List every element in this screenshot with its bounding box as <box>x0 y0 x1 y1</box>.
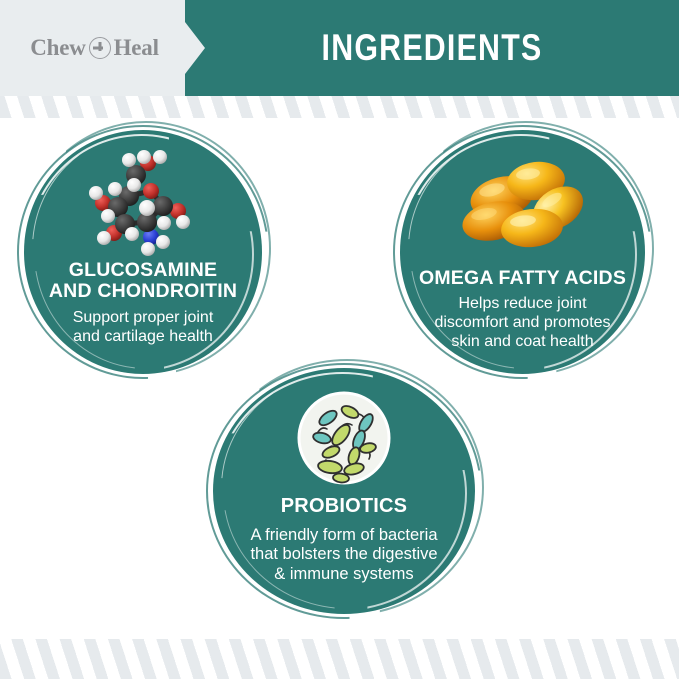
card-title-glucosamine: GLUCOSAMINE AND CHONDROITIN <box>49 260 237 302</box>
card-title-probiotics: PROBIOTICS <box>281 496 407 518</box>
card-desc-line2: that bolsters the digestive <box>250 545 437 564</box>
card-title-omega: OMEGA FATTY ACIDS <box>419 268 626 289</box>
atom-hydrogen <box>141 242 155 256</box>
card-title-line2: AND CHONDROITIN <box>49 281 237 302</box>
page-title: INGREDIENTS <box>229 0 634 96</box>
header-chevron-notch-icon <box>185 22 205 74</box>
molecule-icon <box>84 144 202 256</box>
brand-word-chew: Chew <box>30 35 85 61</box>
card-title-line1: OMEGA FATTY ACIDS <box>419 268 626 289</box>
circled-plus-icon <box>89 37 111 59</box>
molecule-icon-slot <box>24 142 262 258</box>
header-bar: Chew Heal INGREDIENTS <box>0 0 679 96</box>
card-desc-line3: skin and coat health <box>434 333 610 352</box>
card-desc-line2: and cartilage health <box>73 328 214 347</box>
card-title-line1: PROBIOTICS <box>281 496 407 518</box>
card-desc-line1: Helps reduce joint <box>434 295 610 314</box>
atom-hydrogen <box>89 186 103 200</box>
brand-word-heal: Heal <box>114 35 159 61</box>
atom-hydrogen <box>97 231 111 245</box>
card-desc-line1: Support proper joint <box>73 309 214 328</box>
atom-hydrogen <box>157 216 171 230</box>
atom-hydrogen <box>153 150 167 164</box>
fish-oil-capsules-icon <box>458 150 588 262</box>
ingredient-circle-omega: OMEGA FATTY ACIDS Helps reduce joint dis… <box>400 130 645 374</box>
card-description-probiotics: A friendly form of bacteria that bolster… <box>250 526 437 584</box>
diagonal-stripe-band-bottom <box>0 639 679 679</box>
atom-hydrogen <box>127 178 141 192</box>
atom-hydrogen <box>125 227 139 241</box>
card-desc-line3: & immune systems <box>250 565 437 584</box>
infographic-page: Chew Heal INGREDIENTS <box>0 0 679 679</box>
atom-hydrogen <box>108 182 122 196</box>
bacteria-culture-icon <box>296 390 392 486</box>
atom-carbon <box>153 196 173 216</box>
atom-hydrogen <box>137 150 151 164</box>
card-description-omega: Helps reduce joint discomfort and promot… <box>434 295 610 352</box>
capsules-icon-slot <box>400 146 645 266</box>
atom-hydrogen <box>156 235 170 249</box>
atom-hydrogen <box>176 215 190 229</box>
card-desc-line1: A friendly form of bacteria <box>250 526 437 545</box>
atom-hydrogen <box>122 153 136 167</box>
atom-oxygen <box>143 183 159 199</box>
diagonal-stripe-band-top <box>0 96 679 118</box>
atom-hydrogen <box>139 200 155 216</box>
card-description-glucosamine: Support proper joint and cartilage healt… <box>73 309 214 347</box>
ingredient-circle-glucosamine: GLUCOSAMINE AND CHONDROITIN Support prop… <box>24 130 262 374</box>
bacteria-icon-slot <box>213 386 475 490</box>
card-title-line1: GLUCOSAMINE <box>49 260 237 281</box>
atom-hydrogen <box>101 209 115 223</box>
brand-logo: Chew Heal <box>12 28 177 68</box>
card-desc-line2: discomfort and promotes <box>434 314 610 333</box>
ingredient-circle-probiotics: PROBIOTICS A friendly form of bacteria t… <box>213 368 475 614</box>
